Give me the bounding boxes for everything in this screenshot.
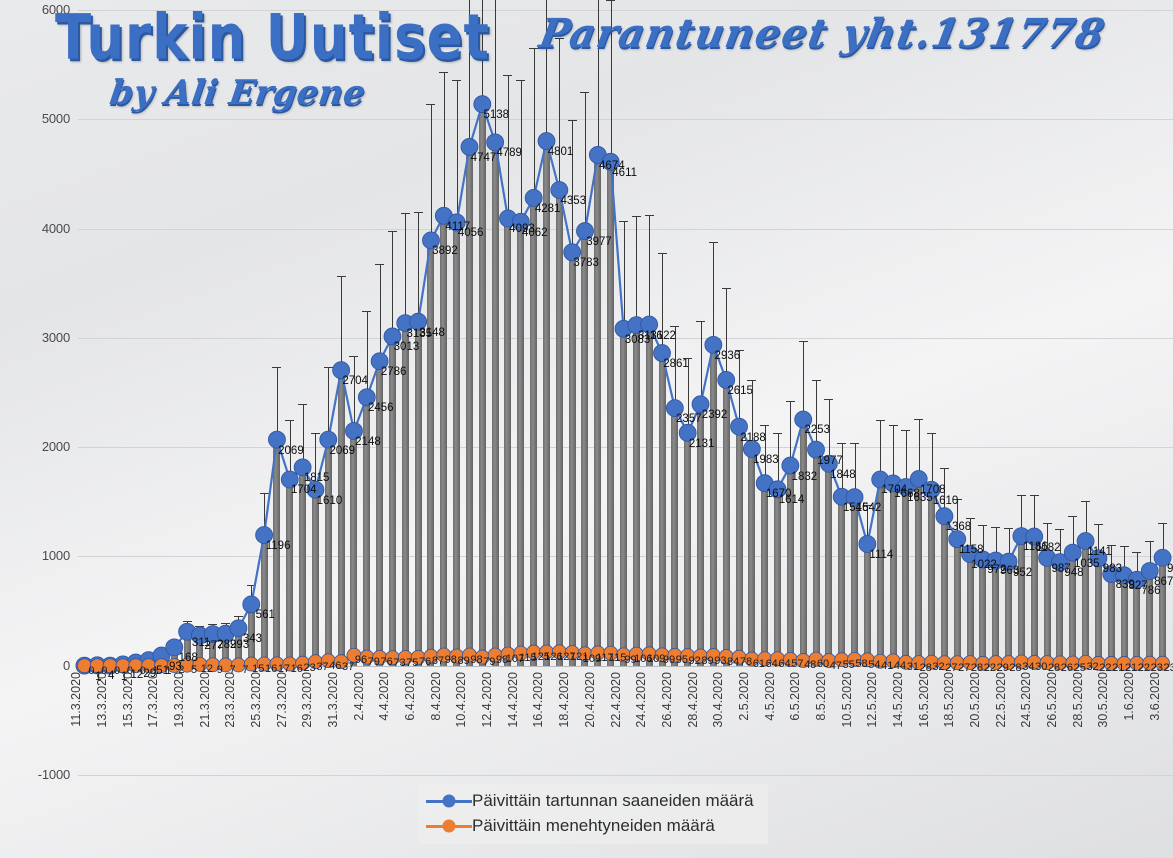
x-axis-labels: 11.3.202013.3.202015.3.202017.3.202019.3… [78, 672, 1169, 768]
legend-label-cases: Päivittäin tartunnan saaneiden määrä [472, 791, 754, 811]
x-axis-tick-label: 16.5.2020 [917, 672, 931, 728]
x-axis-tick-label: 19.3.2020 [172, 672, 186, 728]
data-label-cases: 1141 [1087, 546, 1112, 558]
y-axis-tick-label: 4000 [0, 221, 70, 236]
data-label-deaths: 64 [778, 658, 790, 670]
chart-title-subtitle: by Ali Ergene [107, 73, 368, 113]
data-label-cases: 4747 [471, 152, 497, 164]
legend-marker-deaths-icon [426, 818, 472, 834]
data-label-cases: 2253 [804, 424, 830, 436]
x-axis-tick-label: 12.4.2020 [480, 672, 494, 728]
data-label-cases: 1035 [1074, 558, 1100, 570]
data-label-cases: 2936 [715, 350, 741, 362]
x-axis-tick-label: 8.5.2020 [814, 672, 828, 721]
data-label-cases: 983 [1103, 563, 1122, 575]
x-axis-tick-label: 14.5.2020 [891, 672, 905, 728]
y-axis-tick-label: 1000 [0, 548, 70, 563]
x-axis-tick-label: 28.5.2020 [1071, 672, 1085, 728]
data-label-cases: 952 [1013, 567, 1032, 579]
data-label-cases: 2615 [727, 385, 753, 397]
data-label-deaths: 95 [676, 654, 688, 666]
data-label-cases: 2069 [278, 445, 304, 457]
data-label-cases: 2131 [689, 438, 715, 450]
data-label-cases: 1196 [266, 540, 291, 552]
data-label-cases: 1114 [869, 549, 893, 561]
x-axis-tick-label: 2.4.2020 [352, 672, 366, 721]
x-axis-tick-label: 23.3.2020 [223, 672, 237, 728]
x-axis-tick-label: 20.5.2020 [968, 672, 982, 728]
data-label-cases: 3783 [573, 257, 599, 269]
legend-item-deaths[interactable]: Päivittäin menehtyneiden määrä [426, 813, 754, 838]
x-axis-tick-label: 18.4.2020 [557, 672, 571, 728]
x-axis-tick-label: 15.3.2020 [121, 672, 135, 728]
data-label-deaths: 93 [714, 655, 726, 667]
data-label-deaths: 54 [868, 659, 880, 671]
data-label-cases: 1368 [946, 521, 972, 533]
data-label-deaths: 76 [381, 656, 393, 668]
x-axis-tick-label: 31.3.2020 [326, 672, 340, 728]
x-axis-tick-label: 26.5.2020 [1045, 672, 1059, 728]
data-label-cases: 988 [1167, 563, 1173, 575]
data-label-deaths: 73 [393, 657, 405, 669]
x-axis-tick-label: 14.4.2020 [506, 672, 520, 728]
x-axis-tick-label: 17.3.2020 [146, 672, 160, 728]
data-label-deaths: 78 [740, 656, 752, 668]
legend-item-cases[interactable]: Päivittäin tartunnan saaneiden määrä [426, 788, 754, 813]
y-axis-tick-label: 2000 [0, 439, 70, 454]
data-label-cases: 2786 [381, 366, 407, 378]
x-axis-tick-label: 6.4.2020 [403, 672, 417, 721]
x-axis-tick-label: 30.4.2020 [711, 672, 725, 728]
x-axis-tick-label: 4.5.2020 [763, 672, 777, 721]
data-label-cases: 4789 [496, 147, 522, 159]
x-axis-tick-label: 18.5.2020 [942, 672, 956, 728]
y-axis-tick-label: 5000 [0, 111, 70, 126]
data-label-cases: 1815 [304, 472, 330, 484]
data-label-cases: 2456 [368, 402, 394, 414]
data-label-deaths: 55 [843, 659, 855, 671]
x-axis-tick-label: 24.4.2020 [634, 672, 648, 728]
data-label-cases: 1158 [959, 544, 984, 556]
x-axis-tick-label: 26.4.2020 [660, 672, 674, 728]
data-label-deaths: 98 [445, 654, 457, 666]
data-label-cases: 1832 [792, 471, 818, 483]
data-label-cases: 1704 [291, 484, 317, 496]
x-axis-tick-label: 25.3.2020 [249, 672, 263, 728]
data-label-deaths: 98 [470, 654, 482, 666]
data-label-deaths: 87 [432, 655, 444, 667]
data-label-deaths: 79 [368, 656, 380, 668]
data-label-deaths: 46 [329, 660, 341, 672]
data-label-deaths: 76 [419, 656, 431, 668]
x-axis-tick-label: 24.5.2020 [1019, 672, 1033, 728]
data-label-cases: 1977 [817, 455, 843, 467]
x-axis-tick-label: 3.6.2020 [1148, 672, 1162, 721]
chart-legend: Päivittäin tartunnan saaneiden määrä Päi… [418, 784, 768, 844]
data-label-cases: 3977 [586, 236, 612, 248]
data-label-deaths: 84 [727, 656, 739, 668]
data-label-deaths: 47 [830, 660, 842, 672]
data-label-cases: 4801 [548, 146, 574, 158]
data-label-deaths: 92 [689, 655, 701, 667]
data-label-deaths: 79 [483, 656, 495, 668]
data-label-cases: 5138 [484, 109, 510, 121]
x-axis-tick-label: 22.4.2020 [609, 672, 623, 728]
x-axis-tick-label: 10.5.2020 [840, 672, 854, 728]
data-label-cases: 1610 [933, 495, 959, 507]
gridline [78, 775, 1173, 776]
y-axis-tick-label: 3000 [0, 330, 70, 345]
x-axis-tick-label: 2.5.2020 [737, 672, 751, 721]
data-label-cases: 2148 [355, 436, 381, 448]
x-axis-tick-label: 1.6.2020 [1122, 672, 1136, 721]
y-axis-tick-label: 0 [0, 658, 70, 673]
data-label-deaths: 75 [406, 657, 418, 669]
data-label-cases: 2704 [342, 375, 368, 387]
x-axis-tick-label: 12.5.2020 [865, 672, 879, 728]
data-label-deaths: 99 [663, 654, 675, 666]
x-axis-tick-label: 10.4.2020 [454, 672, 468, 728]
data-label-cases: 4353 [561, 195, 587, 207]
data-label-deaths: 57 [791, 658, 803, 670]
data-label-cases: 2188 [740, 432, 766, 444]
data-label-cases: 3148 [419, 327, 445, 339]
data-label-deaths: 60 [817, 658, 829, 670]
x-axis-tick-label: 20.4.2020 [583, 672, 597, 728]
data-label-deaths: 64 [766, 658, 778, 670]
data-label-cases: 3122 [650, 330, 676, 342]
chart-root: 6000500040003000200010000-1000 141122951… [0, 0, 1173, 858]
x-axis-tick-label: 4.4.2020 [377, 672, 391, 721]
chart-title-main: Turkin Uutiset [55, 2, 490, 74]
data-label-cases: 4281 [535, 203, 561, 215]
data-label-cases: 1610 [317, 495, 343, 507]
x-axis-tick-label: 22.5.2020 [994, 672, 1008, 728]
data-label-cases: 1848 [830, 469, 856, 481]
data-label-deaths: 89 [701, 655, 713, 667]
data-label-deaths: 41 [881, 660, 893, 672]
data-label-cases: 1542 [856, 502, 882, 514]
x-axis-tick-label: 16.4.2020 [531, 672, 545, 728]
data-label-cases: 2861 [663, 358, 689, 370]
x-axis-tick-label: 29.3.2020 [300, 672, 314, 728]
data-label-deaths: 48 [804, 659, 816, 671]
x-axis-tick-label: 13.3.2020 [95, 672, 109, 728]
data-label-cases: 3892 [432, 245, 458, 257]
data-label-cases: 2069 [329, 445, 355, 457]
x-axis-tick-label: 8.4.2020 [429, 672, 443, 721]
data-label-cases: 561 [256, 609, 275, 621]
legend-label-deaths: Päivittäin menehtyneiden määrä [472, 816, 715, 836]
data-label-cases: 4062 [522, 227, 548, 239]
data-label-cases: 4611 [612, 167, 637, 179]
chart-annotation-recovered: Parantuneet yht.131778 [536, 10, 1109, 57]
data-label-deaths: 44 [894, 660, 906, 672]
data-label-cases: 168 [179, 652, 198, 664]
x-axis-tick-label: 27.3.2020 [275, 672, 289, 728]
data-label-cases: 4056 [458, 227, 484, 239]
x-axis-tick-label: 6.5.2020 [788, 672, 802, 721]
x-axis-tick-label: 28.4.2020 [686, 672, 700, 728]
data-label-cases: 1983 [753, 454, 779, 466]
series-line [84, 104, 1162, 665]
y-axis-tick-label: -1000 [0, 767, 70, 782]
x-axis-tick-label: 30.5.2020 [1096, 672, 1110, 728]
data-label-deaths: 96 [355, 654, 367, 666]
legend-marker-cases-icon [426, 793, 472, 809]
data-label-cases: 867 [1154, 576, 1173, 588]
data-label-deaths: 61 [753, 658, 765, 670]
data-label-cases: 1614 [779, 494, 805, 506]
data-label-cases: 2357 [676, 413, 702, 425]
data-label-cases: 3013 [394, 341, 420, 353]
data-label-deaths: 89 [458, 655, 470, 667]
data-label-deaths: 58 [855, 658, 867, 670]
data-label-cases: 1182 [1036, 542, 1061, 554]
x-axis-tick-label: 21.3.2020 [198, 672, 212, 728]
data-label-cases: 2392 [702, 409, 728, 421]
x-axis-tick-label: 11.3.2020 [69, 672, 83, 727]
data-label-cases: 343 [243, 633, 262, 645]
